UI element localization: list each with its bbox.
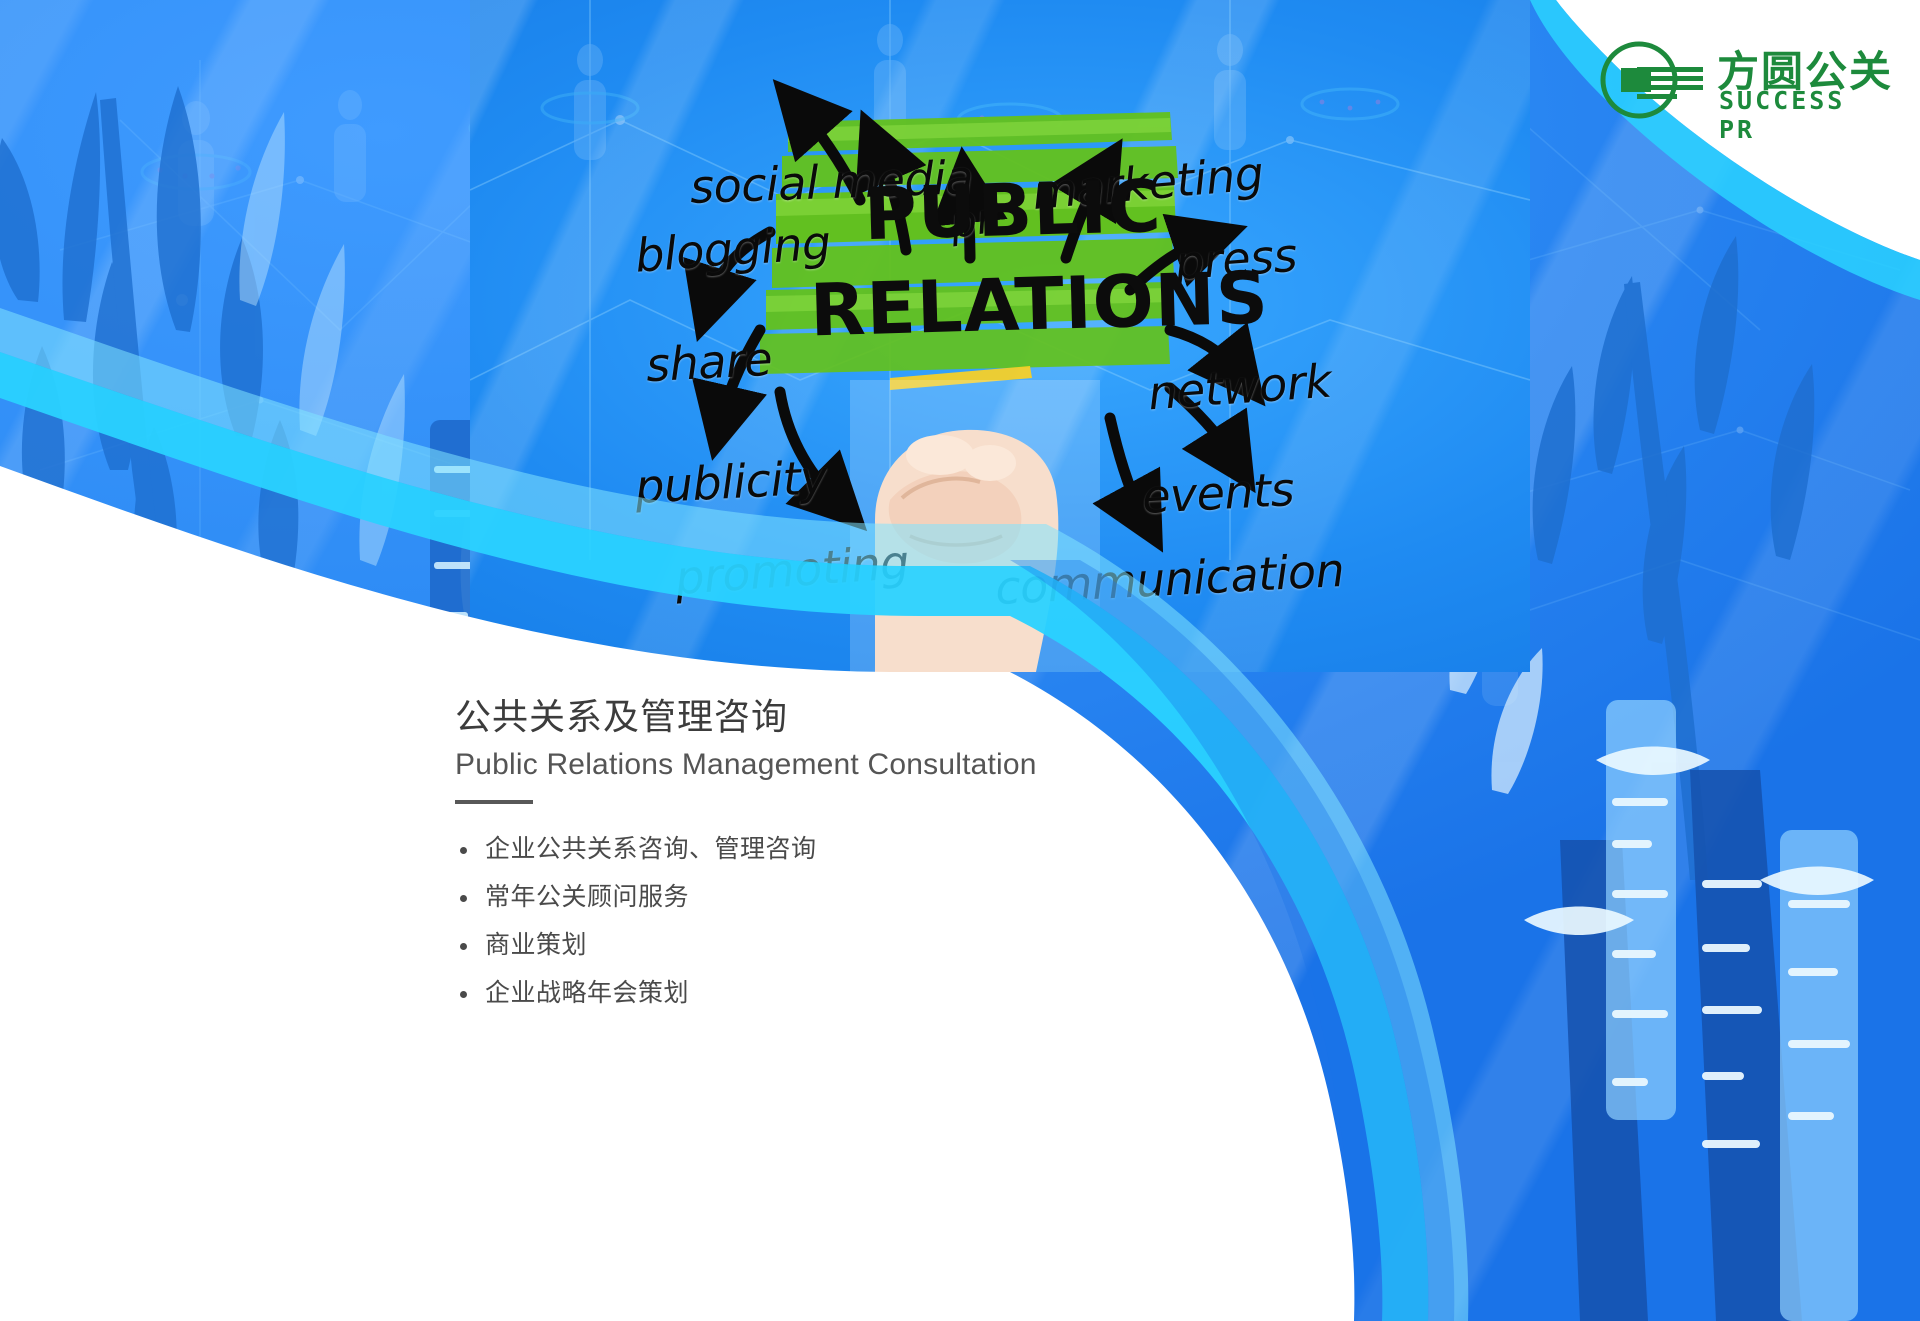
service-bullet-item: 常年公关顾问服务: [455, 884, 1355, 909]
content-text-block: 公共关系及管理咨询 Public Relations Management Co…: [455, 695, 1355, 1028]
bullet-dot-icon: [460, 847, 467, 854]
service-bullet-item: 企业公共关系咨询、管理咨询: [455, 836, 1355, 861]
circle-bars-logo-mark: [1597, 40, 1707, 120]
bullet-dot-icon: [460, 895, 467, 902]
decorative-curve-shapes: [0, 0, 1920, 1321]
service-bullet-label: 商业策划: [485, 930, 587, 959]
service-bullet-label: 企业公共关系咨询、管理咨询: [485, 834, 817, 863]
title-divider-rule: [455, 800, 533, 804]
service-bullet-list: 企业公共关系咨询、管理咨询常年公关顾问服务商业策划企业战略年会策划: [455, 836, 1355, 1005]
logo-english-text: SUCCESS PR: [1719, 86, 1897, 144]
service-bullet-item: 企业战略年会策划: [455, 980, 1355, 1005]
service-bullet-item: 商业策划: [455, 932, 1355, 957]
bullet-dot-icon: [460, 991, 467, 998]
service-bullet-label: 企业战略年会策划: [485, 978, 689, 1007]
bullet-dot-icon: [460, 943, 467, 950]
slide-canvas: social mediabloggingprmarketingpressshar…: [0, 0, 1920, 1321]
brand-logo[interactable]: 方圆公关 SUCCESS PR: [1597, 38, 1897, 120]
page-title-chinese: 公共关系及管理咨询: [455, 695, 1355, 740]
service-bullet-label: 常年公关顾问服务: [485, 882, 689, 911]
page-title-english: Public Relations Management Consultation: [455, 748, 1355, 782]
